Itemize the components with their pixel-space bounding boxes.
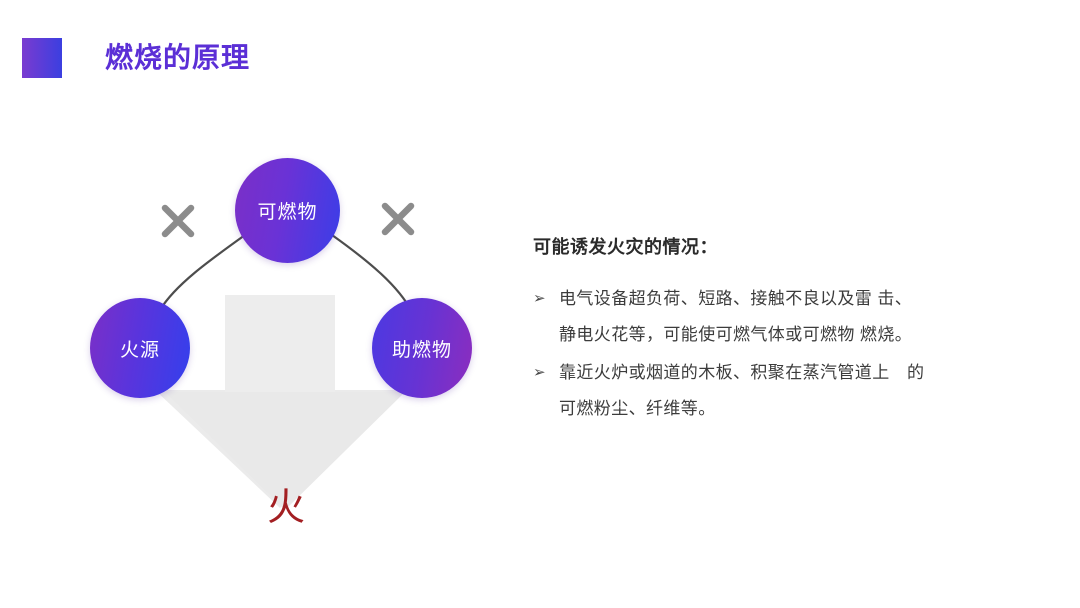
fire-result-label: 火 (267, 487, 305, 529)
info-panel: 可能诱发火灾的情况： ➢ 电气设备超负荷、短路、接触不良以及雷 击、 静电火花等… (533, 233, 1033, 429)
list-item: ➢ 靠近火炉或烟道的木板、积聚在蒸汽管道上 的 可燃粉尘、纤维等。 (533, 355, 1033, 427)
slide-title-bar: 燃烧的原理 (22, 38, 250, 78)
connector-arc-right (332, 235, 412, 312)
diagram-node-oxidizer[interactable]: 助燃物 (372, 298, 472, 398)
down-arrow-shaft (225, 295, 335, 392)
diagram-node-oxidizer-label: 助燃物 (392, 335, 452, 362)
bullet-arrow-icon: ➢ (533, 281, 559, 317)
diagram-node-ignition-label: 火源 (120, 335, 160, 362)
info-heading: 可能诱发火灾的情况： (533, 233, 1033, 259)
list-item-text: 电气设备超负荷、短路、接触不良以及雷 击、 静电火花等，可能使可燃气体或可燃物 … (559, 281, 912, 353)
cross-mark-left-icon (165, 208, 191, 234)
cross-mark-right-icon (385, 206, 411, 232)
diagram-node-fuel[interactable]: 可燃物 (235, 158, 340, 263)
page-title: 燃烧的原理 (105, 44, 250, 72)
diagram-node-fuel-label: 可燃物 (257, 197, 317, 224)
slide-canvas: 燃烧的原理 火 可燃物 (0, 0, 1080, 608)
list-item-text: 靠近火炉或烟道的木板、积聚在蒸汽管道上 的 可燃粉尘、纤维等。 (559, 355, 924, 427)
diagram-node-ignition[interactable]: 火源 (90, 298, 190, 398)
title-marker-square (22, 38, 62, 78)
fire-triangle-diagram: 火 可燃物 火源 助燃物 (60, 130, 500, 550)
bullet-arrow-icon: ➢ (533, 355, 559, 391)
list-item: ➢ 电气设备超负荷、短路、接触不良以及雷 击、 静电火花等，可能使可燃气体或可燃… (533, 281, 1033, 353)
